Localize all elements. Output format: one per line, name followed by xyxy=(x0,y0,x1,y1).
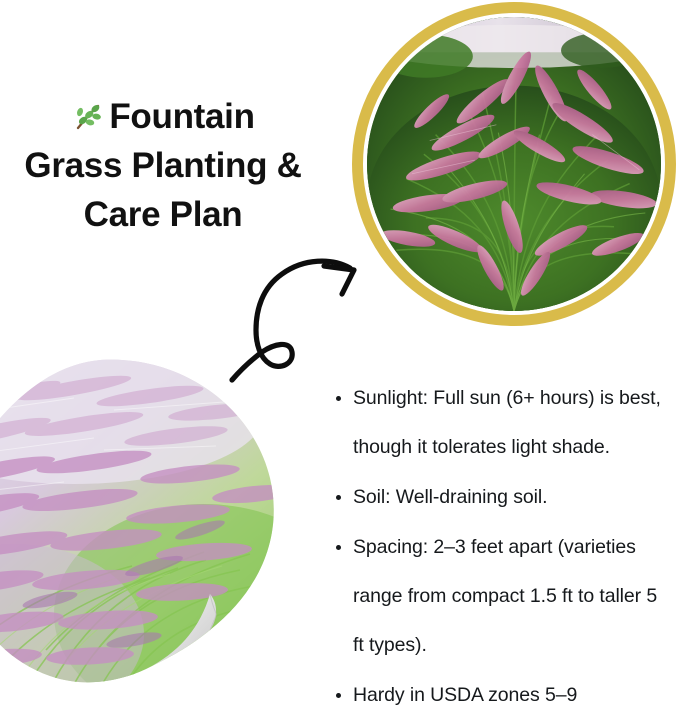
title-heading: Fountain Grass Planting & Care Plan xyxy=(0,92,326,239)
title-line-1: Fountain xyxy=(109,97,254,136)
infographic-canvas: Fountain Grass Planting & Care Plan xyxy=(0,0,679,688)
fountain-grass-clump-photo xyxy=(352,2,676,326)
title-line-3: Care Plan xyxy=(84,195,243,234)
title-line-2: Grass Planting & xyxy=(24,146,301,185)
list-item: Hardy in USDA zones 5–9 xyxy=(332,671,672,720)
list-item: Soil: Well-draining soil. xyxy=(332,473,672,522)
fountain-grass-field-photo xyxy=(0,354,286,688)
list-item: Sunlight: Full sun (6+ hours) is best, t… xyxy=(332,374,672,472)
care-plan-list: Sunlight: Full sun (6+ hours) is best, t… xyxy=(332,374,672,721)
page-title: Fountain Grass Planting & Care Plan xyxy=(0,92,326,239)
arrowhead xyxy=(324,266,354,294)
photo-inner-clip xyxy=(367,17,661,311)
herb-leaf-emoji xyxy=(71,97,105,131)
list-item: Spacing: 2–3 feet apart (varieties range… xyxy=(332,523,672,670)
